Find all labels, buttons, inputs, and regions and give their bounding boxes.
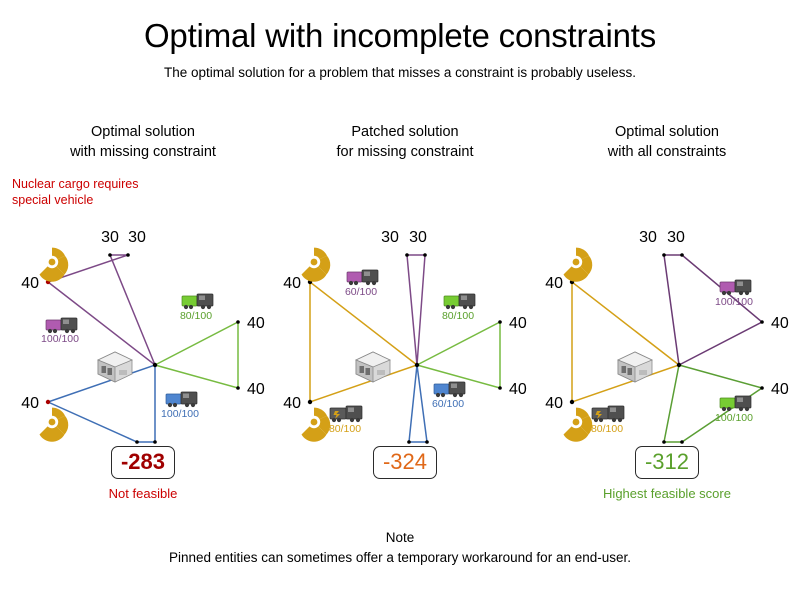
demand-right-upper: 40 bbox=[771, 315, 789, 332]
truck-yellow bbox=[592, 406, 624, 422]
route-green bbox=[417, 322, 500, 388]
page-subtitle: The optimal solution for a problem that … bbox=[0, 65, 800, 80]
score-block-1: -324 bbox=[272, 446, 538, 486]
panel-0-diagram: 30 30 40 40 40 40 30 30 100/100 80/100 bbox=[10, 170, 276, 440]
truck-green bbox=[444, 294, 475, 309]
demand-left-upper: 40 bbox=[545, 275, 563, 292]
node-top-right bbox=[126, 253, 130, 257]
route-yellow bbox=[310, 282, 417, 402]
node-right-lower bbox=[498, 386, 502, 390]
node-left-lower bbox=[308, 400, 312, 404]
nuclear-icon-left-upper bbox=[302, 248, 331, 282]
route-purple bbox=[407, 255, 425, 365]
truck-blue-capacity: 60/100 bbox=[432, 398, 464, 410]
panel-2-title-line1: Optimal solution bbox=[534, 122, 800, 142]
footer-note-text: Pinned entities can sometimes offer a te… bbox=[0, 548, 800, 568]
node-bottom-left bbox=[407, 440, 411, 444]
panel-patched-missing-constraint: Patched solution for missing constraint … bbox=[272, 122, 538, 442]
truck-yellow bbox=[330, 406, 362, 422]
truck-yellow-capacity: 80/100 bbox=[591, 423, 623, 435]
panel-0-nodes bbox=[46, 253, 240, 444]
nuclear-icon-left-lower bbox=[40, 408, 69, 442]
node-right-upper bbox=[498, 320, 502, 324]
node-bottom-right bbox=[680, 440, 684, 444]
panel-0-title: Optimal solution with missing constraint bbox=[10, 122, 276, 162]
truck-blue bbox=[434, 382, 465, 397]
page-title: Optimal with incomplete constraints bbox=[0, 16, 800, 56]
route-blue bbox=[409, 365, 427, 442]
demand-top-left: 30 bbox=[381, 229, 399, 246]
footer-note-label: Note bbox=[0, 528, 800, 548]
truck-purple-capacity: 100/100 bbox=[41, 333, 79, 345]
node-bottom-right bbox=[153, 440, 157, 444]
truck-green-capacity: 80/100 bbox=[180, 310, 212, 322]
node-depot-anchor bbox=[677, 363, 681, 367]
route-purple bbox=[664, 255, 762, 365]
demand-left-lower: 40 bbox=[545, 395, 563, 412]
demand-top-left: 30 bbox=[639, 229, 657, 246]
demand-right-lower: 40 bbox=[247, 381, 265, 398]
demand-left-upper: 40 bbox=[283, 275, 301, 292]
truck-green-capacity: 100/100 bbox=[715, 412, 753, 424]
demand-left-upper: 40 bbox=[21, 275, 39, 292]
node-top-left bbox=[108, 253, 112, 257]
node-right-lower bbox=[236, 386, 240, 390]
depot-icon bbox=[98, 352, 132, 382]
panel-1-title: Patched solution for missing constraint bbox=[272, 122, 538, 162]
score-value-2: -312 bbox=[635, 446, 699, 479]
truck-purple-capacity: 100/100 bbox=[715, 296, 753, 308]
panel-1-diagram: 30 30 40 40 40 40 30 30 60/100 80/100 bbox=[272, 170, 538, 440]
score-block-0: -283 Not feasible bbox=[10, 446, 276, 502]
node-depot-anchor bbox=[153, 363, 157, 367]
truck-purple bbox=[46, 318, 77, 333]
panel-2-title-line2: with all constraints bbox=[534, 142, 800, 162]
node-right-upper bbox=[236, 320, 240, 324]
demand-left-lower: 40 bbox=[21, 395, 39, 412]
demand-right-upper: 40 bbox=[509, 315, 527, 332]
truck-purple bbox=[347, 270, 378, 285]
panel-2-title: Optimal solution with all constraints bbox=[534, 122, 800, 162]
nuclear-icon-left-lower bbox=[302, 408, 331, 442]
score-block-2: -312 Highest feasible score bbox=[534, 446, 800, 502]
truck-green-capacity: 80/100 bbox=[442, 310, 474, 322]
node-top-right bbox=[680, 253, 684, 257]
demand-left-lower: 40 bbox=[283, 395, 301, 412]
node-bottom-left bbox=[135, 440, 139, 444]
node-bottom-right bbox=[425, 440, 429, 444]
score-value-0: -283 bbox=[111, 446, 175, 479]
truck-purple-capacity: 60/100 bbox=[345, 286, 377, 298]
route-green bbox=[155, 322, 238, 388]
panel-0-routes bbox=[48, 255, 238, 442]
node-left-lower bbox=[570, 400, 574, 404]
demand-top-left: 30 bbox=[101, 229, 119, 246]
node-right-lower bbox=[760, 386, 764, 390]
score-value-1: -324 bbox=[373, 446, 437, 479]
nuclear-icon-left-upper bbox=[564, 248, 593, 282]
nuclear-icon-left-lower bbox=[564, 408, 593, 442]
truck-blue bbox=[166, 392, 197, 407]
depot-icon bbox=[356, 352, 390, 382]
demand-right-lower: 40 bbox=[509, 381, 527, 398]
truck-green bbox=[182, 294, 213, 309]
panel-1-title-line2: for missing constraint bbox=[272, 142, 538, 162]
truck-blue-capacity: 100/100 bbox=[161, 408, 199, 420]
panel-optimal-all-constraints: Optimal solution with all constraints 30… bbox=[534, 122, 800, 442]
panel-0-title-line2: with missing constraint bbox=[10, 142, 276, 162]
node-depot-anchor bbox=[415, 363, 419, 367]
score-caption-0: Not feasible bbox=[10, 486, 276, 502]
node-left-lower bbox=[46, 400, 50, 404]
footer-note: Note Pinned entities can sometimes offer… bbox=[0, 528, 800, 568]
panel-optimal-missing-constraint: Optimal solution with missing constraint bbox=[10, 122, 276, 442]
node-top-right bbox=[423, 253, 427, 257]
demand-top-right: 30 bbox=[667, 229, 685, 246]
panel-1-title-line1: Patched solution bbox=[272, 122, 538, 142]
score-caption-2: Highest feasible score bbox=[534, 486, 800, 502]
demand-top-right: 30 bbox=[128, 229, 146, 246]
node-right-upper bbox=[760, 320, 764, 324]
truck-green bbox=[720, 396, 751, 411]
truck-yellow-capacity: 80/100 bbox=[329, 423, 361, 435]
route-yellow bbox=[572, 282, 679, 402]
demand-right-upper: 40 bbox=[247, 315, 265, 332]
node-top-left bbox=[662, 253, 666, 257]
panel-0-title-line1: Optimal solution bbox=[10, 122, 276, 142]
truck-purple bbox=[720, 280, 751, 295]
node-top-left bbox=[405, 253, 409, 257]
node-bottom-left bbox=[662, 440, 666, 444]
depot-icon bbox=[618, 352, 652, 382]
demand-top-right: 30 bbox=[409, 229, 427, 246]
demand-right-lower: 40 bbox=[771, 381, 789, 398]
panel-2-diagram: 30 30 40 40 40 40 30 30 100/100 80/100 bbox=[534, 170, 800, 440]
